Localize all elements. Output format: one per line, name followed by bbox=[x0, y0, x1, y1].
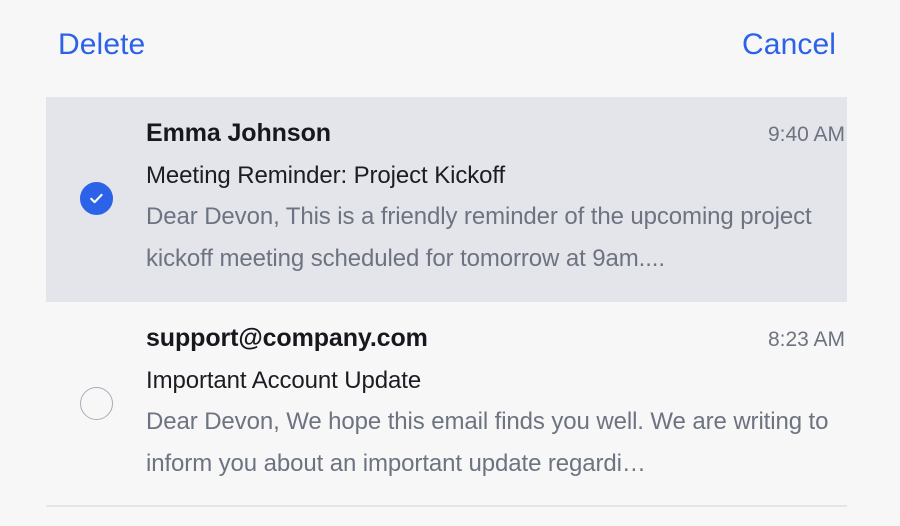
message-timestamp: 8:23 AM bbox=[768, 326, 845, 354]
message-list: Emma Johnson 9:40 AM Meeting Reminder: P… bbox=[0, 90, 900, 507]
message-sender: support@company.com bbox=[146, 322, 428, 355]
checkbox-column bbox=[46, 322, 146, 485]
list-divider bbox=[46, 505, 847, 507]
message-sender: Emma Johnson bbox=[146, 117, 331, 150]
checkbox-column bbox=[46, 117, 146, 280]
check-circle-filled-icon[interactable] bbox=[80, 182, 113, 215]
email-selection-screen: Delete Cancel Emma Johnson 9:40 AM Meeti… bbox=[0, 0, 900, 526]
message-content: Emma Johnson 9:40 AM Meeting Reminder: P… bbox=[146, 117, 847, 280]
message-row[interactable]: support@company.com 8:23 AM Important Ac… bbox=[46, 302, 847, 507]
delete-button[interactable]: Delete bbox=[58, 28, 145, 62]
message-content: support@company.com 8:23 AM Important Ac… bbox=[146, 322, 847, 485]
message-preview: Dear Devon, We hope this email finds you… bbox=[146, 401, 845, 485]
message-preview: Dear Devon, This is a friendly reminder … bbox=[146, 196, 845, 280]
circle-outline-icon[interactable] bbox=[80, 387, 113, 420]
message-timestamp: 9:40 AM bbox=[768, 121, 845, 149]
message-subject: Important Account Update bbox=[146, 363, 845, 399]
message-subject: Meeting Reminder: Project Kickoff bbox=[146, 158, 845, 194]
message-header: support@company.com 8:23 AM bbox=[146, 322, 845, 355]
message-header: Emma Johnson 9:40 AM bbox=[146, 117, 845, 150]
action-bar: Delete Cancel bbox=[0, 0, 900, 90]
cancel-button[interactable]: Cancel bbox=[742, 28, 836, 62]
message-row[interactable]: Emma Johnson 9:40 AM Meeting Reminder: P… bbox=[46, 97, 847, 302]
